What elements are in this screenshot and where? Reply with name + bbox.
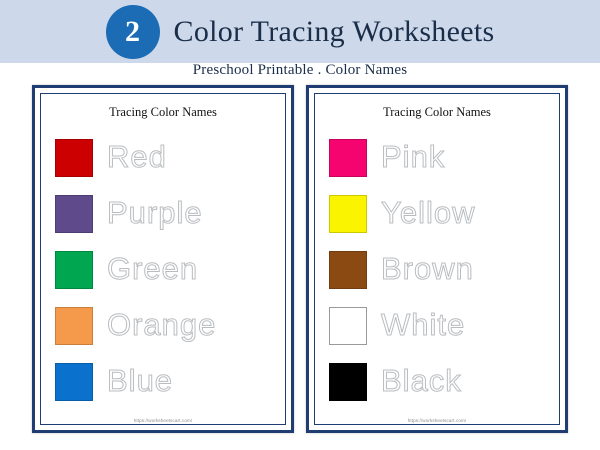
- badge-count: 2: [106, 5, 160, 59]
- page-subtitle: Preschool Printable . Color Names: [0, 62, 600, 79]
- trace-word: Red: [107, 141, 167, 172]
- color-row: Purple: [35, 186, 291, 242]
- worksheet-footer-url: https://worksheetscart.com/: [309, 418, 565, 423]
- trace-word: White: [381, 309, 465, 340]
- trace-word: Blue: [107, 365, 173, 396]
- header-row: 2 Color Tracing Worksheets: [0, 0, 600, 63]
- color-swatch: [55, 195, 93, 233]
- color-row: White: [309, 298, 565, 354]
- worksheet-card-2[interactable]: Tracing Color Names Pink Yellow Brown Wh…: [306, 85, 568, 433]
- color-row: Blue: [35, 354, 291, 410]
- color-swatch: [329, 139, 367, 177]
- trace-word: Pink: [381, 141, 445, 172]
- page-title: Color Tracing Worksheets: [174, 15, 495, 49]
- worksheet-list: Tracing Color Names Red Purple Green Ora…: [0, 85, 600, 445]
- worksheet-title-2: Tracing Color Names: [309, 105, 565, 120]
- color-row: Pink: [309, 130, 565, 186]
- color-row: Black: [309, 354, 565, 410]
- color-row: Brown: [309, 242, 565, 298]
- color-row: Orange: [35, 298, 291, 354]
- worksheet-preview-page: 2 Color Tracing Worksheets Preschool Pri…: [0, 0, 600, 450]
- color-swatch: [329, 195, 367, 233]
- color-swatch: [329, 363, 367, 401]
- color-swatch: [329, 307, 367, 345]
- worksheet-title-1: Tracing Color Names: [35, 105, 291, 120]
- trace-word: Yellow: [381, 197, 475, 228]
- trace-word: Brown: [381, 253, 474, 284]
- color-row: Red: [35, 130, 291, 186]
- color-swatch: [329, 251, 367, 289]
- trace-word: Green: [107, 253, 198, 284]
- trace-word: Orange: [107, 309, 216, 340]
- color-row: Green: [35, 242, 291, 298]
- color-row-list-1: Red Purple Green Orange Blue: [35, 130, 291, 410]
- color-swatch: [55, 363, 93, 401]
- color-swatch: [55, 139, 93, 177]
- color-swatch: [55, 307, 93, 345]
- worksheet-footer-url: https://worksheetscart.com/: [35, 418, 291, 423]
- color-row: Yellow: [309, 186, 565, 242]
- color-swatch: [55, 251, 93, 289]
- color-row-list-2: Pink Yellow Brown White Black: [309, 130, 565, 410]
- trace-word: Purple: [107, 197, 203, 228]
- trace-word: Black: [381, 365, 462, 396]
- worksheet-card-1[interactable]: Tracing Color Names Red Purple Green Ora…: [32, 85, 294, 433]
